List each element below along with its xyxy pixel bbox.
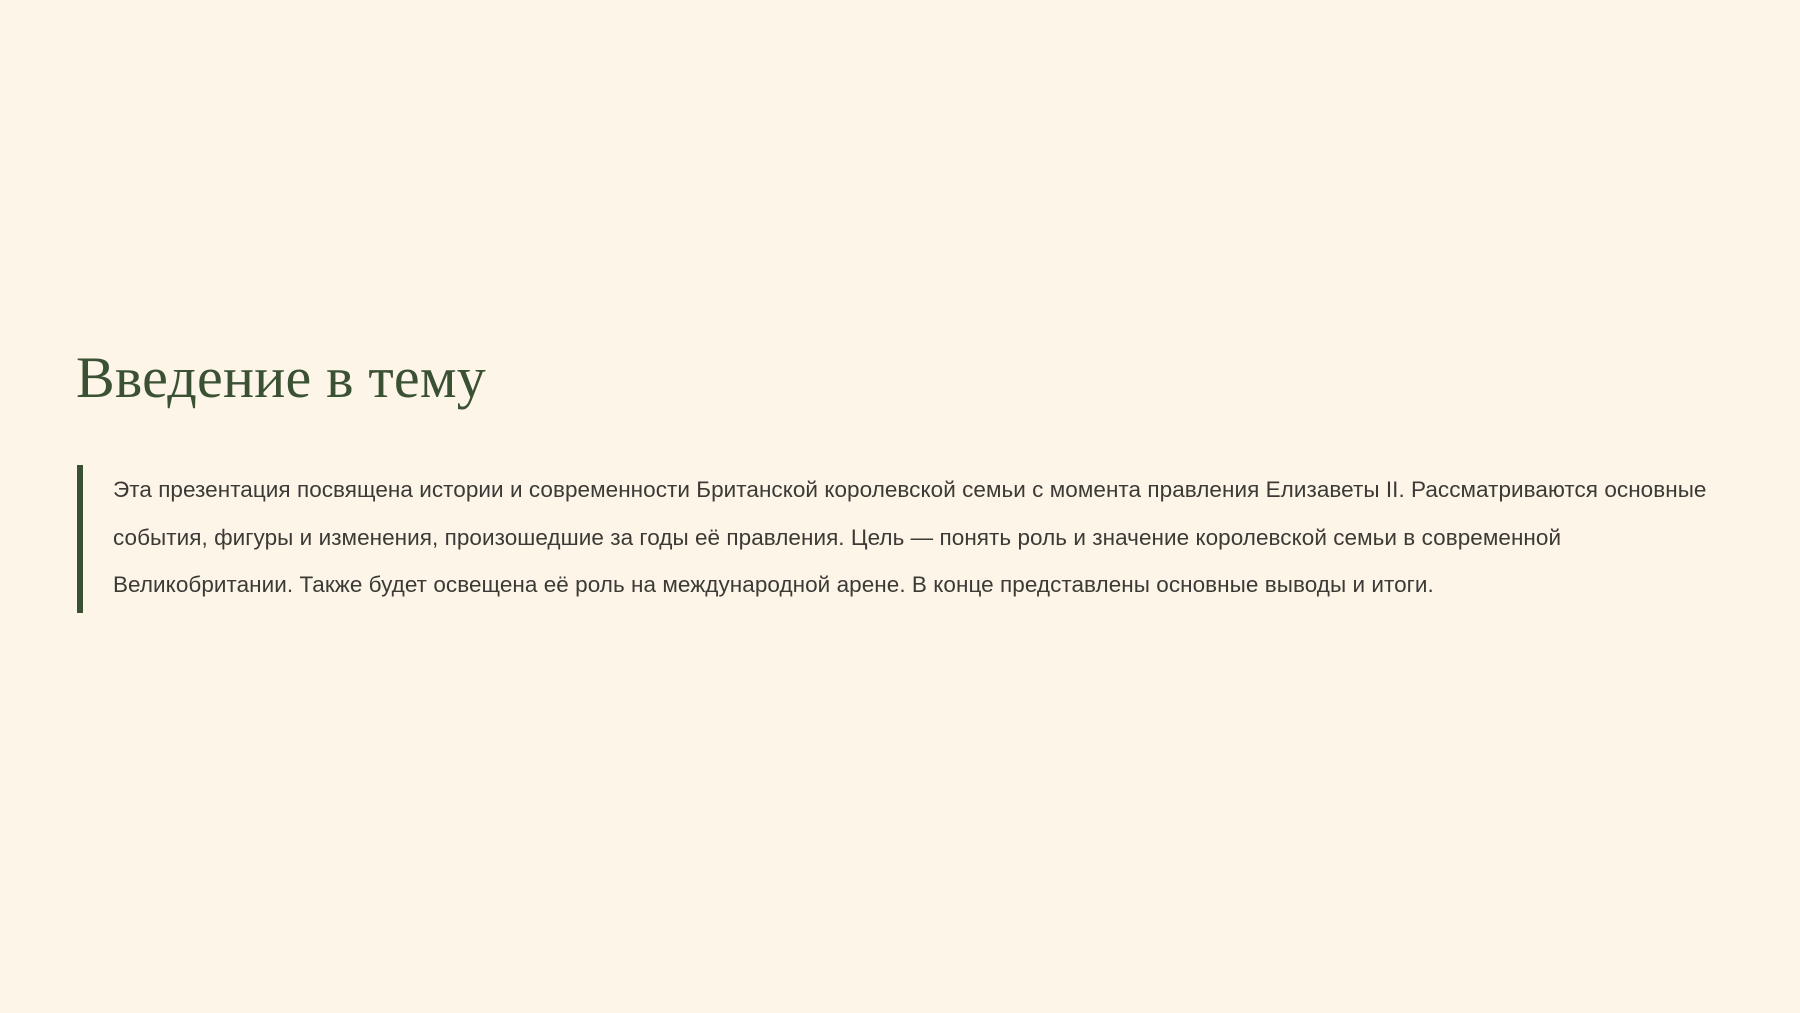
intro-body-block: Эта презентация посвящена истории и совр… — [77, 465, 1707, 613]
page-title: Введение в тему — [76, 346, 486, 411]
presentation-slide: Введение в тему Эта презентация посвящен… — [0, 0, 1800, 1013]
intro-paragraph: Эта презентация посвящена истории и совр… — [83, 465, 1707, 613]
